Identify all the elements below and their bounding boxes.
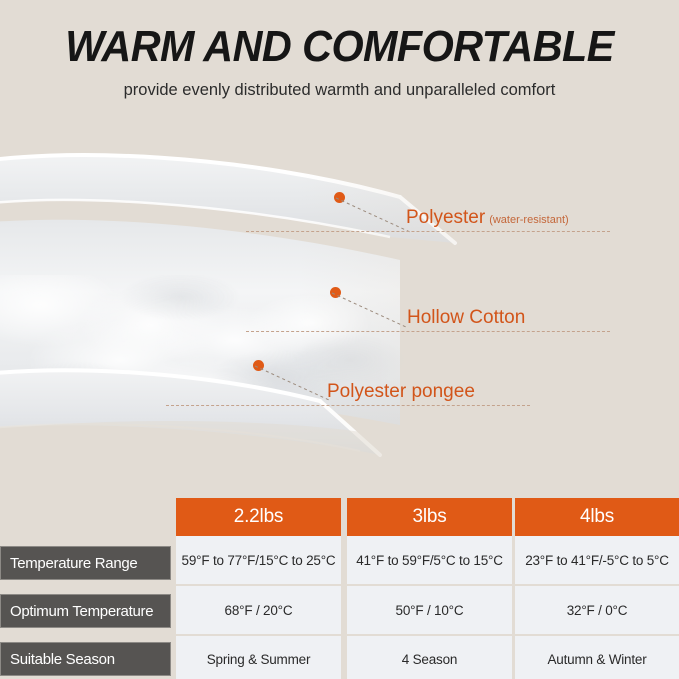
- table-row-label-text-0: Temperature Range: [10, 555, 137, 572]
- table-header-label-0: 2.2lbs: [234, 506, 284, 528]
- table-cell-text-0-2: 23°F to 41°F/-5°C to 5°C: [525, 553, 669, 568]
- callout-rule-polyester: [246, 231, 610, 232]
- table-header-label-1: 3lbs: [412, 506, 446, 528]
- comparison-table: 2.2lbs 3lbs 4lbs Temperature Range 59°F …: [0, 498, 679, 679]
- callout-label-polyester-pongee: Polyester pongee: [327, 382, 475, 401]
- table-cell-1-2: 32°F / 0°C: [515, 586, 679, 634]
- page-title: WARM AND COMFORTABLE: [20, 22, 658, 72]
- table-cell-1-0: 68°F / 20°C: [176, 586, 341, 634]
- table-row-label-text-1: Optimum Temperature: [10, 603, 153, 620]
- table-cell-text-2-0: Spring & Summer: [207, 652, 311, 667]
- page-subtitle: provide evenly distributed warmth and un…: [10, 78, 669, 102]
- table-cell-0-2: 23°F to 41°F/-5°C to 5°C: [515, 536, 679, 584]
- table-row-label-optimum-temperature: Optimum Temperature: [0, 594, 171, 628]
- callout-label-hollow-cotton-main: Hollow Cotton: [407, 307, 525, 328]
- table-cell-0-0: 59°F to 77°F/15°C to 25°C: [176, 536, 341, 584]
- table-cell-text-0-0: 59°F to 77°F/15°C to 25°C: [182, 553, 336, 568]
- callout-label-polyester-main: Polyester: [406, 207, 485, 228]
- table-header-cell-1: 3lbs: [347, 498, 512, 536]
- table-cell-2-0: Spring & Summer: [176, 636, 341, 679]
- table-cell-text-1-0: 68°F / 20°C: [225, 603, 293, 618]
- header-block: WARM AND COMFORTABLE provide evenly dist…: [0, 0, 679, 125]
- product-infographic: WARM AND COMFORTABLE provide evenly dist…: [0, 0, 679, 679]
- table-row-label-suitable-season: Suitable Season: [0, 642, 171, 676]
- table-row-label-text-2: Suitable Season: [10, 651, 115, 668]
- table-cell-text-2-1: 4 Season: [402, 652, 457, 667]
- callout-label-polyester-sub: (water-resistant): [489, 214, 568, 226]
- table-header-label-2: 4lbs: [580, 506, 614, 528]
- callout-label-hollow-cotton: Hollow Cotton: [407, 308, 525, 327]
- table-cell-text-1-1: 50°F / 10°C: [396, 603, 464, 618]
- callout-rule-polyester-pongee: [166, 405, 530, 406]
- table-cell-text-0-1: 41°F to 59°F/5°C to 15°C: [356, 553, 503, 568]
- table-row-label-temperature-range: Temperature Range: [0, 546, 171, 580]
- table-cell-2-1: 4 Season: [347, 636, 512, 679]
- table-header-cell-2: 4lbs: [515, 498, 679, 536]
- table-cell-1-1: 50°F / 10°C: [347, 586, 512, 634]
- table-header-cell-0: 2.2lbs: [176, 498, 341, 536]
- table-cell-0-1: 41°F to 59°F/5°C to 15°C: [347, 536, 512, 584]
- table-cell-text-1-2: 32°F / 0°C: [567, 603, 628, 618]
- table-cell-text-2-2: Autumn & Winter: [547, 652, 646, 667]
- table-cell-2-2: Autumn & Winter: [515, 636, 679, 679]
- callout-rule-hollow-cotton: [246, 331, 610, 332]
- callout-label-polyester-pongee-main: Polyester pongee: [327, 381, 475, 402]
- callout-label-polyester: Polyester(water-resistant): [406, 208, 569, 227]
